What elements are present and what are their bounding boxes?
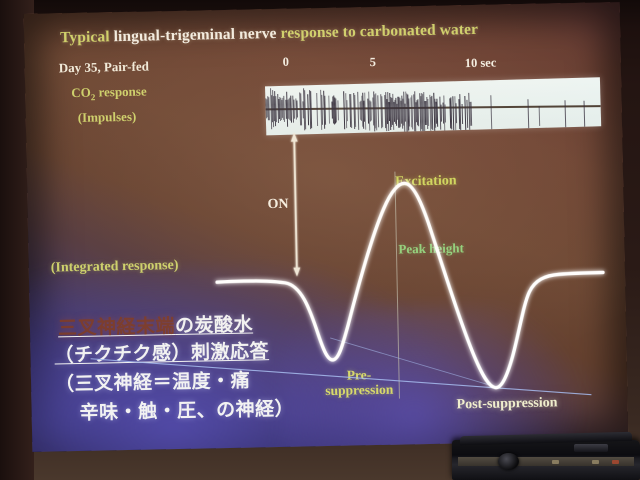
- chart-overlay: [24, 2, 629, 452]
- projector-lens-icon: [498, 453, 519, 470]
- projector-device: [452, 440, 640, 480]
- projector-zoom-knob: [574, 444, 608, 452]
- projected-slide: Typical lingual-trigeminal nerve respons…: [24, 2, 629, 452]
- projector-indicator-led-3: [612, 460, 619, 464]
- projector-indicator-led-1: [552, 460, 559, 464]
- on-stimulus-arrow: [278, 132, 315, 277]
- projector-front-band: [458, 457, 634, 466]
- projector-indicator-led-2: [592, 460, 599, 464]
- screenshot-root: Typical lingual-trigeminal nerve respons…: [0, 0, 640, 480]
- peak-height-guide-line: [395, 172, 400, 399]
- baseline-reference-line: [91, 349, 592, 405]
